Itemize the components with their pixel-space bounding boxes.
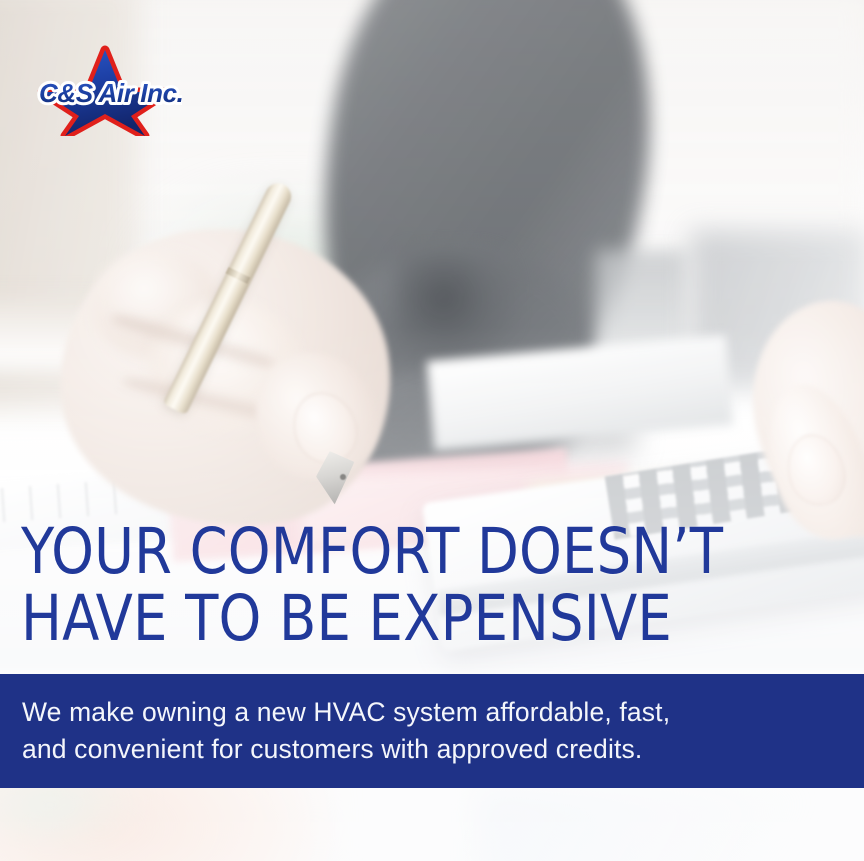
dark-background-blob: [396, 250, 516, 370]
bottom-light-sheen: [480, 790, 864, 861]
svg-text:C&S Air Inc.: C&S Air Inc.: [39, 78, 182, 108]
blue-message-banner: We make owning a new HVAC system afforda…: [0, 674, 864, 788]
banner-message: We make owning a new HVAC system afforda…: [22, 694, 670, 768]
logo-wordmark: C&S Air Inc. C&S Air Inc.: [39, 78, 182, 108]
headline: YOUR COMFORT DOESN’T HAVE TO BE EXPENSIV…: [21, 518, 799, 652]
fountain-pen-nib-vent: [340, 474, 346, 480]
company-logo[interactable]: C&S Air Inc. C&S Air Inc.: [30, 44, 182, 136]
promotional-ad-card: C&S Air Inc. C&S Air Inc. YOUR COMFORT D…: [0, 0, 864, 861]
